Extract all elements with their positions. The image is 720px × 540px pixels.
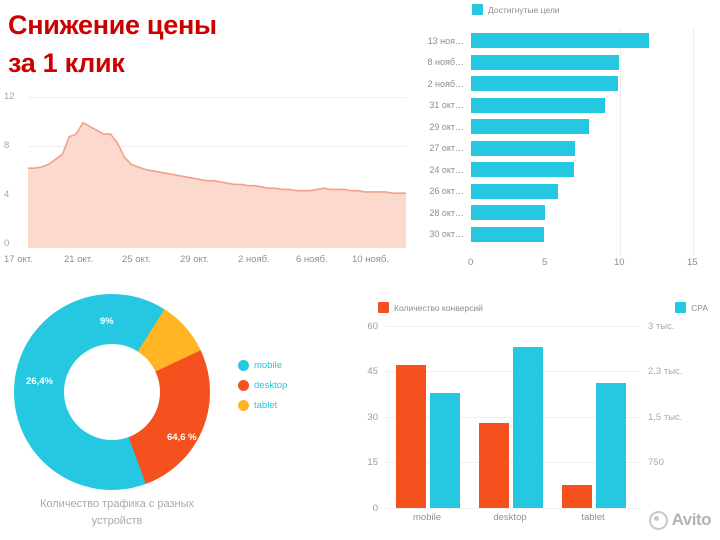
area-ytick-0: 0 [4,238,9,249]
legend-swatch-icon [238,380,249,391]
bar-fill [471,98,605,113]
bar-cpa-mobile [430,393,460,508]
avito-watermark: Avito [649,510,711,530]
area-series-path [28,96,406,248]
page-title: Снижение цены за 1 клик [8,6,298,82]
goals-bar-rows: 13 ноя… 8 нояб… 2 нояб… 31 окт… 29 окт… … [408,30,720,245]
bar-fill [471,119,589,134]
legend-swatch-icon [378,302,389,313]
bar-row: 28 окт… [408,202,720,224]
bar-row: 8 нояб… [408,52,720,74]
bar-category-label: 8 нояб… [408,57,471,67]
legend-item-conversions: Количество конверсий [378,302,483,313]
bar-track [471,138,720,160]
legend-swatch-icon [675,302,686,313]
xtick-0: 0 [468,257,473,268]
area-xtick-4: 2 нояб. [238,254,270,265]
bar-category-label: 2 нояб… [408,79,471,89]
area-plot [28,96,406,248]
avito-logo-icon [649,511,668,530]
left-ytick-30: 30 [354,412,378,423]
legend-item-tablet: tablet [238,400,287,411]
bar-category-label: 29 окт… [408,122,471,132]
area-xtick-0: 17 окт. [4,254,33,265]
bar-track [471,73,720,95]
bar-row: 13 ноя… [408,30,720,52]
bar-fill [471,227,544,242]
donut-value-tablet: 9% [100,316,114,327]
bar-fill [471,76,618,91]
vbar-legend: Количество конверсий CPA [378,302,708,313]
left-ytick-15: 15 [354,457,378,468]
area-xtick-6: 10 нояб. [352,254,389,265]
bar-row: 30 окт… [408,224,720,246]
bar-category-label: 31 окт… [408,100,471,110]
watermark-text: Avito [672,510,711,530]
left-ytick-0: 0 [354,503,378,514]
bar-category-label: 13 ноя… [408,36,471,46]
xtick-tablet: tablet [558,512,628,523]
donut-ring: 9% 26,4% 64,6 % [14,294,210,490]
left-ytick-60: 60 [354,321,378,332]
legend-label-cpa: CPA [691,303,708,313]
bar-fill [471,162,574,177]
legend-swatch-icon [472,4,483,15]
xtick-mobile: mobile [392,512,462,523]
legend-label-goals: Достигнутые цели [488,5,560,15]
goals-bar-chart: Достигнутые цели 13 ноя… 8 нояб… 2 нояб…… [408,0,720,288]
legend-label-desktop: desktop [254,380,287,391]
left-ytick-45: 45 [354,366,378,377]
bar-row: 26 окт… [408,181,720,203]
gridline [386,508,640,509]
bar-fill [471,141,575,156]
right-ytick-3000: 3 тыс. [648,321,675,332]
conversions-cpa-chart: Количество конверсий CPA 60 45 30 15 0 3… [348,288,720,540]
goals-xaxis: 0 5 10 15 [471,257,693,271]
page-title-line1: Снижение цены [8,6,298,44]
bar-conversions-tablet [562,485,592,508]
cpc-area-chart: 12 8 4 0 17 окт. 21 окт. 25 окт. 29 окт.… [0,92,408,282]
bar-group-desktop [479,347,543,508]
bar-fill [471,184,558,199]
legend-item-mobile: mobile [238,360,287,371]
slide-root: Снижение цены за 1 клик 12 8 4 0 17 окт.… [0,0,720,540]
bar-group-tablet [562,383,626,508]
legend-swatch-icon [238,400,249,411]
bar-category-label: 30 окт… [408,229,471,239]
legend-label-mobile: mobile [254,360,282,371]
bar-group-mobile [396,365,460,508]
bar-track [471,30,720,52]
page-title-line2: за 1 клик [8,44,298,82]
bar-cpa-tablet [596,383,626,508]
bar-track [471,52,720,74]
xtick-desktop: desktop [475,512,545,523]
area-xtick-5: 6 нояб. [296,254,328,265]
donut-wrap: 9% 26,4% 64,6 % [14,294,210,490]
bar-fill [471,33,649,48]
bar-row: 24 окт… [408,159,720,181]
right-ytick-2300: 2,3 тыс. [648,366,682,377]
bar-fill [471,55,619,70]
bar-track [471,224,720,246]
bar-fill [471,205,545,220]
vbar-plot [386,326,640,508]
legend-label-conversions: Количество конверсий [394,303,483,313]
bar-track [471,116,720,138]
area-ytick-8: 8 [4,140,9,151]
devices-donut-chart: 9% 26,4% 64,6 % mobile desktop tablet Ко… [0,288,348,540]
bar-row: 29 окт… [408,116,720,138]
bar-conversions-desktop [479,423,509,508]
bar-track [471,159,720,181]
area-xtick-3: 29 окт. [180,254,209,265]
bar-cpa-desktop [513,347,543,508]
bar-category-label: 28 окт… [408,208,471,218]
xtick-5: 5 [542,257,547,268]
area-ytick-12: 12 [4,91,15,102]
legend-item-desktop: desktop [238,380,287,391]
donut-legend: mobile desktop tablet [238,360,287,420]
bar-track [471,202,720,224]
bar-row: 2 нояб… [408,73,720,95]
legend-item-cpa: CPA [675,302,708,313]
bar-category-label: 27 окт… [408,143,471,153]
donut-hole [64,344,160,440]
goals-legend: Достигнутые цели [472,4,560,15]
bar-category-label: 24 окт… [408,165,471,175]
legend-label-tablet: tablet [254,400,277,411]
legend-swatch-icon [238,360,249,371]
bar-track [471,95,720,117]
donut-value-mobile: 64,6 % [167,432,197,443]
xtick-15: 15 [687,257,698,268]
bar-row: 31 окт… [408,95,720,117]
bar-row: 27 окт… [408,138,720,160]
bar-track [471,181,720,203]
bar-category-label: 26 окт… [408,186,471,196]
area-xtick-2: 25 окт. [122,254,151,265]
xtick-10: 10 [614,257,625,268]
right-ytick-750: 750 [648,457,664,468]
donut-value-desktop: 26,4% [26,376,53,387]
right-ytick-1500: 1,5 тыс. [648,412,682,423]
area-xtick-1: 21 окт. [64,254,93,265]
donut-caption: Количество трафика с разных устройств [22,496,212,530]
bar-conversions-mobile [396,365,426,508]
area-ytick-4: 4 [4,189,9,200]
